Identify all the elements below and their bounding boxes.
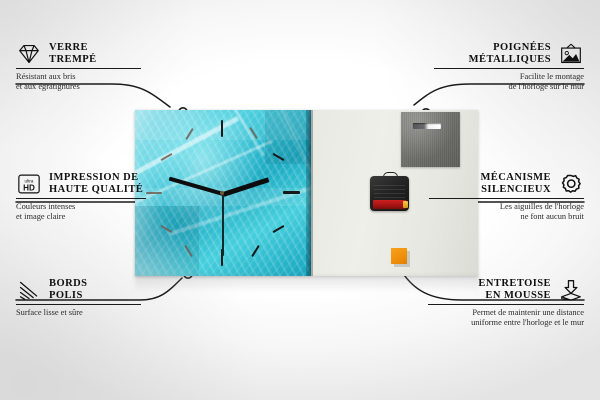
feature-subtitle: Permet de maintenir une distance uniform… [428, 308, 584, 328]
diamond-icon [16, 43, 42, 65]
feature-title: BORDS POLIS [49, 278, 87, 301]
feature-entretoise-en-mousse: ENTRETOISE EN MOUSSE Permet de maintenir… [428, 278, 584, 328]
feature-bords-polis: BORDS POLIS Surface lisse et sûre [16, 278, 141, 318]
feature-rule [428, 304, 584, 305]
feature-impression-haute-qualite: ultra HD IMPRESSION DE HAUTE QUALITÉ Cou… [16, 172, 146, 222]
hand-pin [220, 191, 224, 195]
feature-rule [16, 68, 141, 69]
tick-9 [146, 192, 162, 194]
feature-subtitle: Couleurs intenses et image claire [16, 202, 146, 222]
second-hand [222, 194, 224, 256]
feature-rule [16, 304, 141, 305]
mechanism-ribs [374, 185, 405, 198]
feature-title: IMPRESSION DE HAUTE QUALITÉ [49, 172, 143, 195]
foam-spacer-icon [558, 279, 584, 301]
tick-12 [221, 120, 223, 137]
ultra-hd-icon: ultra HD [16, 173, 42, 195]
feature-title: ENTRETOISE EN MOUSSE [478, 278, 551, 301]
tick-3 [283, 191, 300, 194]
foam-spacer [391, 248, 407, 264]
battery [373, 200, 406, 209]
mechanism-body [370, 176, 409, 211]
feature-title: POIGNÉES MÉTALLIQUES [469, 42, 551, 65]
tick-5 [251, 245, 260, 257]
feature-rule [429, 198, 584, 199]
panel-seam [311, 110, 313, 276]
clock-face [135, 110, 311, 276]
feature-rule [434, 68, 584, 69]
silent-clock-mechanism [370, 172, 409, 211]
feature-poignees-metalliques: POIGNÉES MÉTALLIQUES Facilite le montage… [434, 42, 584, 92]
gear-icon [558, 173, 584, 195]
polished-edges-icon [16, 279, 42, 301]
feature-verre-trempe: VERRE TREMPÉ Résistant aux bris et aux é… [16, 42, 141, 92]
feature-title: VERRE TREMPÉ [49, 42, 97, 65]
feature-subtitle: Surface lisse et sûre [16, 308, 141, 318]
feature-subtitle: Les aiguilles de l'horloge ne font aucun… [429, 202, 584, 222]
feature-subtitle: Facilite le montage de l'horloge sur le … [434, 72, 584, 92]
svg-text:HD: HD [23, 183, 35, 192]
feature-mecanisme-silencieux: MÉCANISME SILENCIEUX Les aiguilles de l'… [429, 172, 584, 222]
infographic-canvas: VERRE TREMPÉ Résistant aux bris et aux é… [0, 0, 600, 400]
picture-hanger-icon [558, 43, 584, 65]
feature-rule [16, 198, 146, 199]
tick-4 [272, 225, 284, 233]
feature-subtitle: Résistant aux bris et aux égratignures [16, 72, 141, 92]
metal-hanger-plate [401, 112, 460, 167]
feature-title: MÉCANISME SILENCIEUX [480, 172, 551, 195]
hanger-slot [413, 123, 441, 129]
